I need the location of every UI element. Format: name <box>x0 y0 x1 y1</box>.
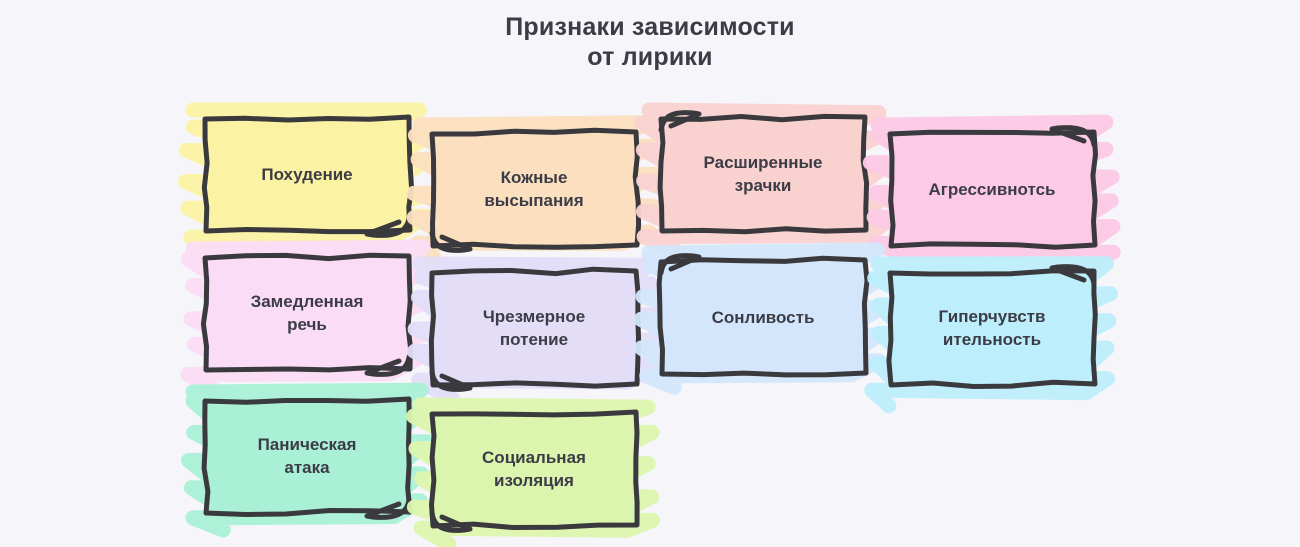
card-sketch <box>410 250 658 406</box>
card-sketch <box>183 96 431 252</box>
symptom-card[interactable]: Расширенные зрачки <box>659 116 867 232</box>
card-body <box>660 116 867 231</box>
card-sketch <box>639 239 887 395</box>
symptom-card[interactable]: Гиперчувств ительность <box>888 270 1096 386</box>
card-body <box>203 255 410 370</box>
card-body <box>890 132 1096 247</box>
card-sketch <box>868 111 1116 267</box>
cards-board: ПохудениеКожные высыпанияРасширенные зра… <box>0 0 1300 546</box>
symptom-card[interactable]: Кожные высыпания <box>430 131 638 247</box>
card-body <box>431 269 638 386</box>
card-sketch <box>410 111 658 267</box>
card-sketch <box>639 96 887 252</box>
card-sketch <box>868 250 1116 406</box>
card-body <box>432 412 638 528</box>
symptom-card[interactable]: Сонливость <box>659 259 867 375</box>
symptom-card[interactable]: Чрезмерное потение <box>430 270 638 386</box>
symptom-card[interactable]: Паническая атака <box>203 398 411 514</box>
card-body <box>659 258 867 375</box>
card-body <box>204 399 410 515</box>
symptom-card[interactable]: Похудение <box>203 116 411 232</box>
symptom-card[interactable]: Агрессивнотсь <box>888 131 1096 247</box>
card-body <box>889 271 1095 387</box>
card-body <box>432 130 639 247</box>
symptom-card[interactable]: Замедленная речь <box>203 255 411 371</box>
card-body <box>204 117 411 232</box>
symptom-card[interactable]: Социальная изоляция <box>430 411 638 527</box>
card-sketch <box>183 235 431 391</box>
card-sketch <box>410 391 658 547</box>
card-sketch <box>183 378 431 534</box>
